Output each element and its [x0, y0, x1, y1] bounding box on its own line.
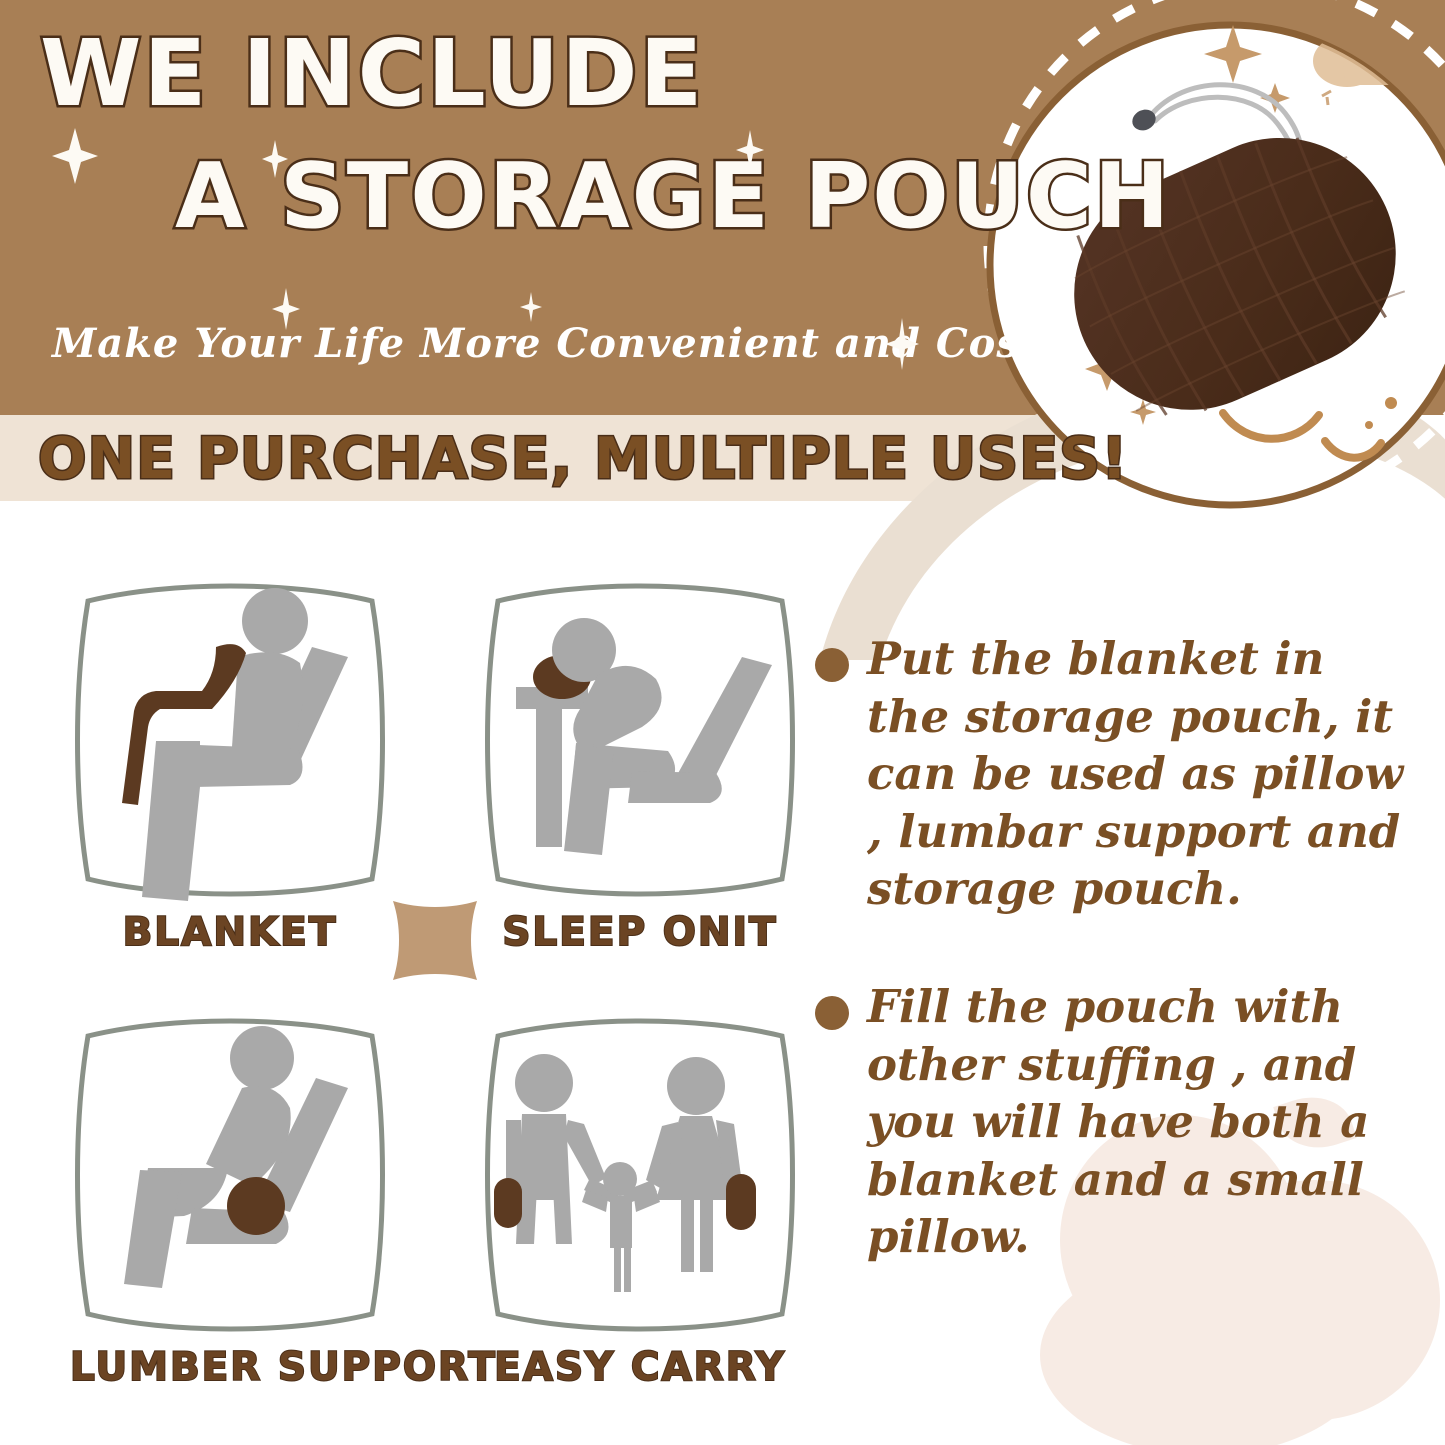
- page-title-line2: A STORAGE POUCH: [175, 152, 1171, 242]
- header-subtitle: Make Your Life More Convenient and Cosy.: [52, 320, 1054, 367]
- feature-card-blanket[interactable]: BLANKET: [70, 575, 390, 905]
- feature-cards-grid: BLANKET: [60, 565, 820, 1425]
- person-sleeping-on-table-icon: [480, 575, 800, 905]
- diamond-separator-icon: [385, 893, 485, 988]
- feature-card-easy-carry[interactable]: EASY CARRY: [480, 1010, 800, 1340]
- card-label: LUMBER SUPPORT: [70, 1345, 390, 1390]
- card-label: BLANKET: [70, 910, 390, 955]
- product-badge: [955, 0, 1445, 605]
- benefits-list: Put the blanket in the storage pouch, it…: [815, 630, 1415, 1326]
- family-carrying-bags-icon: [480, 1010, 800, 1340]
- infographic-root: WE INCLUDE A STORAGE POUCH Make Your Lif…: [0, 0, 1445, 1445]
- card-label: EASY CARRY: [480, 1345, 800, 1390]
- seated-person-with-blanket-icon: [70, 575, 390, 905]
- feature-card-lumber-support[interactable]: LUMBER SUPPORT: [70, 1010, 390, 1340]
- list-item: Put the blanket in the storage pouch, it…: [815, 630, 1415, 918]
- bullet-dot-icon: [815, 648, 849, 682]
- bullet-text: Fill the pouch with other stuffing , and…: [867, 978, 1415, 1266]
- page-title-line1: WE INCLUDE: [40, 28, 704, 120]
- bullet-dot-icon: [815, 996, 849, 1030]
- banner-title: ONE PURCHASE, MULTIPLE USES!: [38, 426, 1128, 492]
- card-label: SLEEP ONIT: [480, 910, 800, 955]
- list-item: Fill the pouch with other stuffing , and…: [815, 978, 1415, 1266]
- feature-card-sleep-on-it[interactable]: SLEEP ONIT: [480, 575, 800, 905]
- bullet-text: Put the blanket in the storage pouch, it…: [867, 630, 1415, 918]
- seated-person-lumbar-cushion-icon: [70, 1010, 390, 1340]
